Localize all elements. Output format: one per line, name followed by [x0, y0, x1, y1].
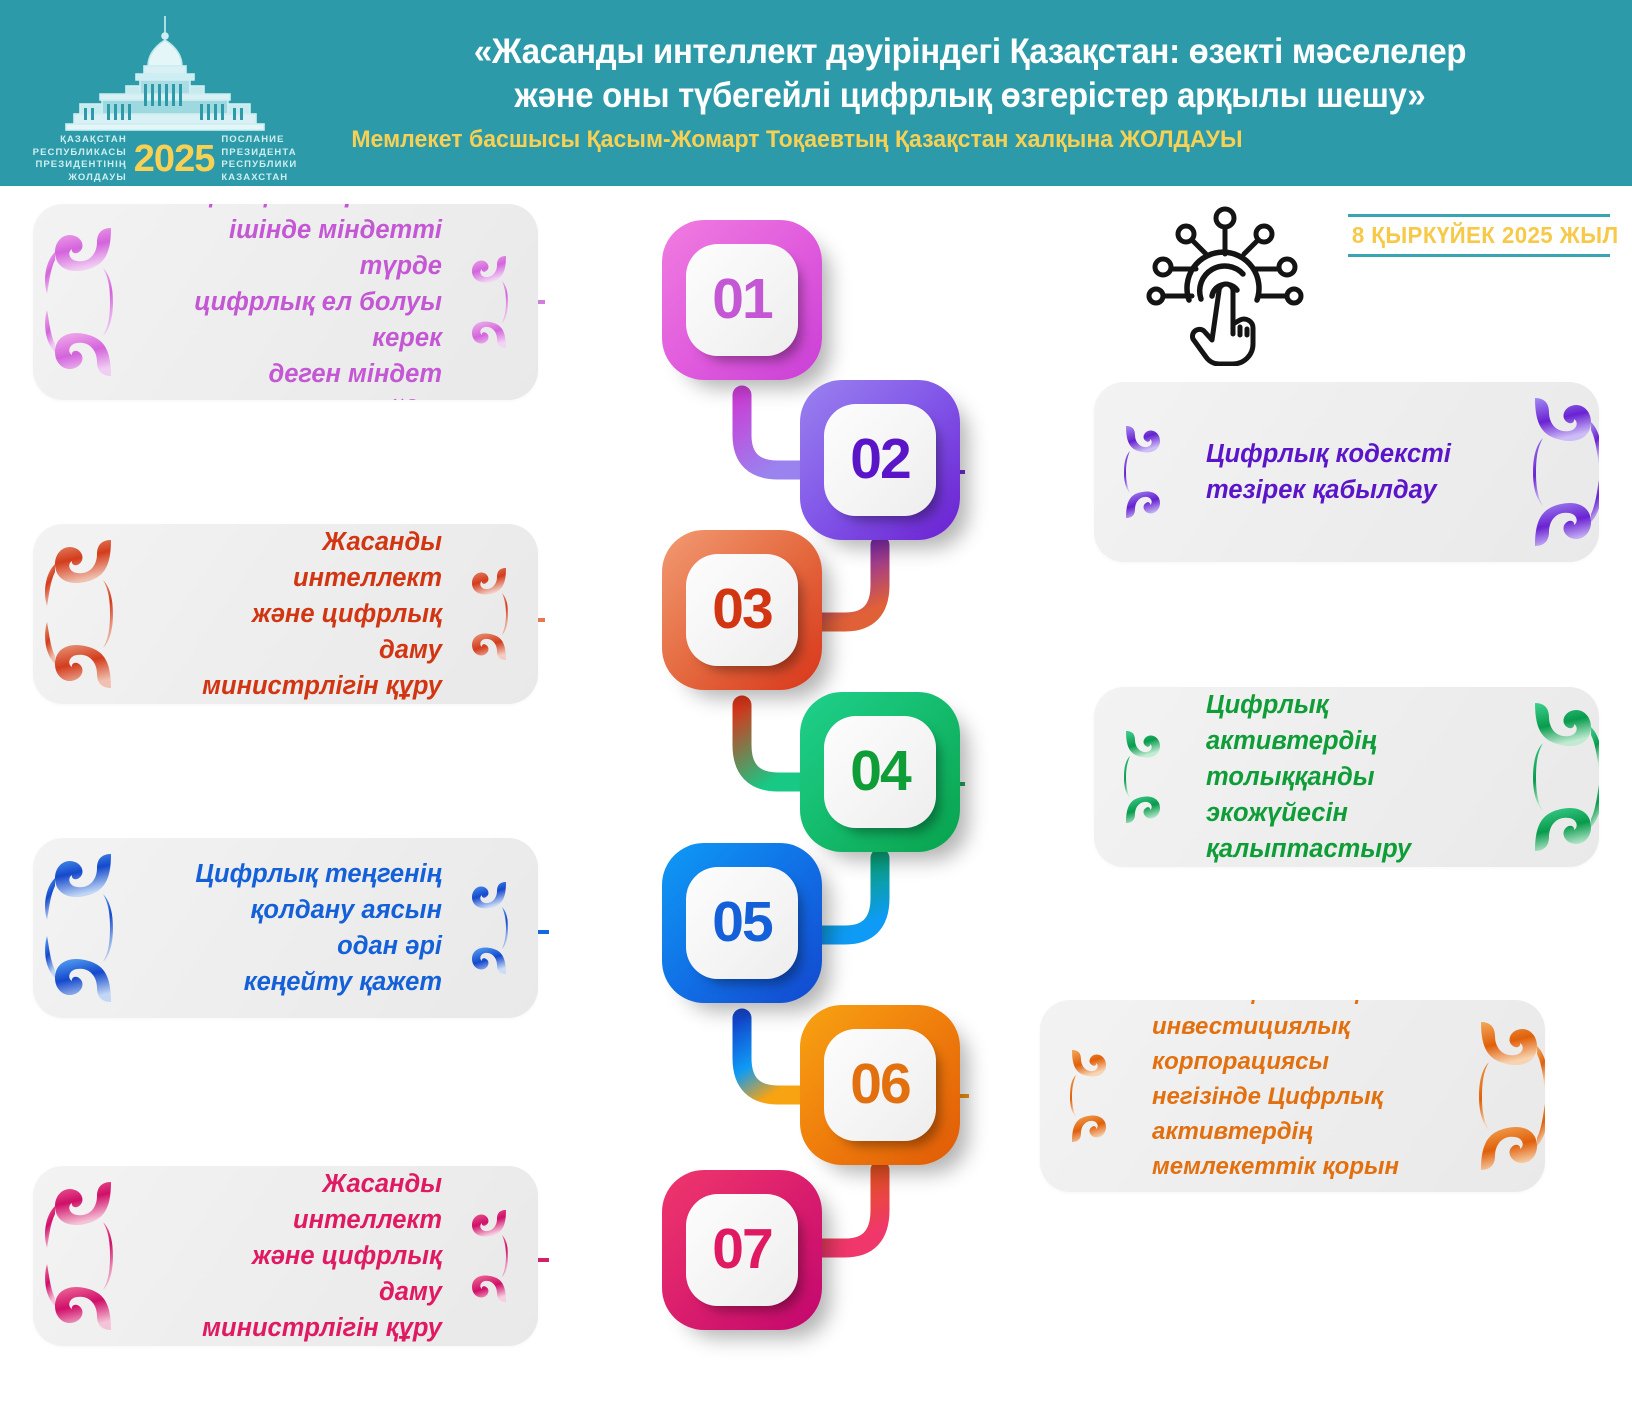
badge-number: 07 — [712, 1221, 771, 1278]
step-card-04-text: Цифрлық активтердің толыққанды экожүйесі… — [1206, 687, 1479, 867]
step-badge-06[interactable]: 06 — [800, 1005, 960, 1165]
date-badge: 8 ҚЫРКҮЙЕК 2025 ЖЫЛ — [1348, 214, 1610, 257]
kazakh-ornament-icon — [41, 848, 137, 1008]
badge-number: 01 — [712, 271, 771, 328]
step-card-03[interactable]: Жасанды интеллект және цифрлық даму мини… — [33, 524, 538, 704]
date-text: 8 ҚЫРКҮЙЕК 2025 ЖЫЛ — [1352, 217, 1606, 254]
step-card-05[interactable]: Цифрлық теңгенің қолдану аясын одан әрі … — [33, 838, 538, 1018]
emblem-text-kazakh: ҚАЗАҚСТАН РЕСПУБЛИКАСЫ ПРЕЗИДЕНТІНІҢ ЖОЛ… — [33, 134, 127, 184]
presidential-palace-icon — [40, 14, 290, 132]
kazakh-ornament-small-icon — [466, 878, 524, 978]
presidential-address-emblem: ҚАЗАҚСТАН РЕСПУБЛИКАСЫ ПРЕЗИДЕНТІНІҢ ЖОЛ… — [0, 0, 330, 186]
leader-line-06 — [958, 1094, 1050, 1098]
step-card-01-text: Қазақстан үш жыл ішінде міндетті түрде ц… — [183, 204, 442, 400]
fingerprint-touch-network-icon — [1140, 196, 1310, 366]
badge-inner: 03 — [686, 554, 798, 666]
step-badge-05[interactable]: 05 — [662, 843, 822, 1003]
leader-line-01 — [538, 300, 676, 304]
header-text-block: «Жасанды интеллект дәуіріндегі Қазақстан… — [330, 30, 1632, 156]
kazakh-ornament-small-icon — [466, 252, 524, 352]
leader-line-02 — [958, 470, 1096, 474]
badge-inner: 05 — [686, 867, 798, 979]
badge-number: 06 — [850, 1056, 909, 1113]
badge-inner: 06 — [824, 1029, 936, 1141]
badge-inner: 07 — [686, 1194, 798, 1306]
step-badge-07[interactable]: 07 — [662, 1170, 822, 1330]
leader-line-03 — [538, 618, 676, 622]
kazakh-ornament-small-icon — [466, 564, 524, 664]
emblem-text-russian: ПОСЛАНИЕ ПРЕЗИДЕНТА РЕСПУБЛИКИ КАЗАХСТАН — [221, 134, 297, 184]
page-header: ҚАЗАҚСТАН РЕСПУБЛИКАСЫ ПРЕЗИДЕНТІНІҢ ЖОЛ… — [0, 0, 1632, 186]
date-rule-bottom — [1348, 254, 1610, 257]
badge-number: 04 — [850, 743, 909, 800]
step-card-02-text: Цифрлық кодексті тезірек қабылдау — [1206, 382, 1479, 562]
badge-number: 03 — [712, 581, 771, 638]
kazakh-ornament-icon — [41, 1176, 137, 1336]
step-badge-02[interactable]: 02 — [800, 380, 960, 540]
step-card-03-text: Жасанды интеллект және цифрлық даму мини… — [183, 524, 442, 704]
step-card-07[interactable]: Жасанды интеллект және цифрлық даму мини… — [33, 1166, 538, 1346]
kazakh-ornament-icon — [1509, 392, 1599, 552]
kazakh-ornament-icon — [1455, 1016, 1545, 1176]
step-card-06-text: Ұлттық банктің инвестициялық корпорацияс… — [1152, 1000, 1425, 1192]
badge-inner: 01 — [686, 244, 798, 356]
step-badge-04[interactable]: 04 — [800, 692, 960, 852]
leader-line-04 — [958, 782, 1096, 786]
page-subtitle: Мемлекет басшысы Қасым-Жомарт Тоқаевтың … — [336, 124, 1553, 156]
step-card-01[interactable]: Қазақстан үш жыл ішінде міндетті түрде ц… — [33, 204, 538, 400]
badge-number: 02 — [850, 431, 909, 488]
page-title: «Жасанды интеллект дәуіріндегі Қазақстан… — [374, 30, 1566, 118]
kazakh-ornament-icon — [1509, 697, 1599, 857]
badge-number: 05 — [712, 894, 771, 951]
kazakh-ornament-small-icon — [1054, 1046, 1112, 1146]
leader-line-05 — [538, 930, 676, 934]
kazakh-ornament-icon — [41, 534, 137, 694]
kazakh-ornament-small-icon — [1108, 727, 1166, 827]
step-card-07-text: Жасанды интеллект және цифрлық даму мини… — [183, 1166, 442, 1346]
emblem-year: 2025 — [134, 140, 215, 178]
badge-inner: 02 — [824, 404, 936, 516]
step-card-05-text: Цифрлық теңгенің қолдану аясын одан әрі … — [183, 838, 442, 1018]
step-badge-03[interactable]: 03 — [662, 530, 822, 690]
step-card-02[interactable]: Цифрлық кодексті тезірек қабылдау — [1094, 382, 1599, 562]
kazakh-ornament-small-icon — [466, 1206, 524, 1306]
step-card-04[interactable]: Цифрлық активтердің толыққанды экожүйесі… — [1094, 687, 1599, 867]
step-badge-01[interactable]: 01 — [662, 220, 822, 380]
step-card-06[interactable]: Ұлттық банктің инвестициялық корпорацияс… — [1040, 1000, 1545, 1192]
kazakh-ornament-small-icon — [1108, 422, 1166, 522]
kazakh-ornament-icon — [41, 222, 137, 382]
badge-inner: 04 — [824, 716, 936, 828]
leader-line-07 — [538, 1258, 676, 1262]
